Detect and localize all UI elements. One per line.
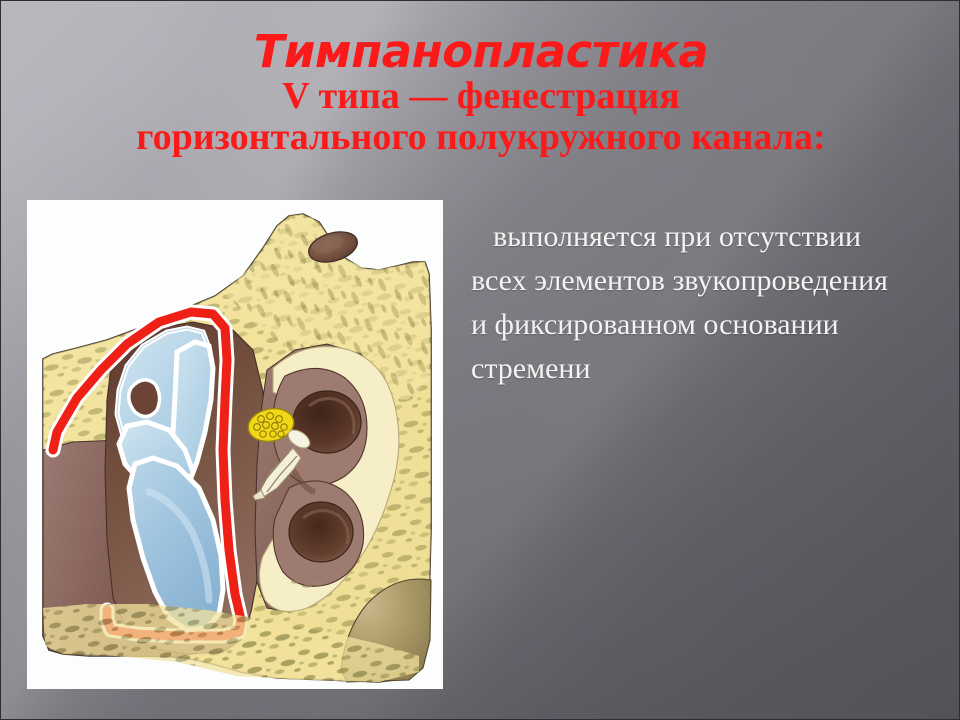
- figure-anatomical-illustration: [27, 200, 443, 689]
- presentation-slide: Тимпанопластика V типа — фенестрация гор…: [0, 0, 960, 720]
- title-line-3: горизонтального полукружного канала:: [1, 116, 960, 158]
- slide-body-paragraph: выполняется при отсутствии всех элементо…: [471, 215, 901, 391]
- title-line-2: V типа — фенестрация: [1, 75, 960, 117]
- ear-cross-section-svg: [27, 200, 443, 689]
- title-line-1: Тимпанопластика: [1, 27, 960, 77]
- slide-title: Тимпанопластика V типа — фенестрация гор…: [1, 27, 960, 158]
